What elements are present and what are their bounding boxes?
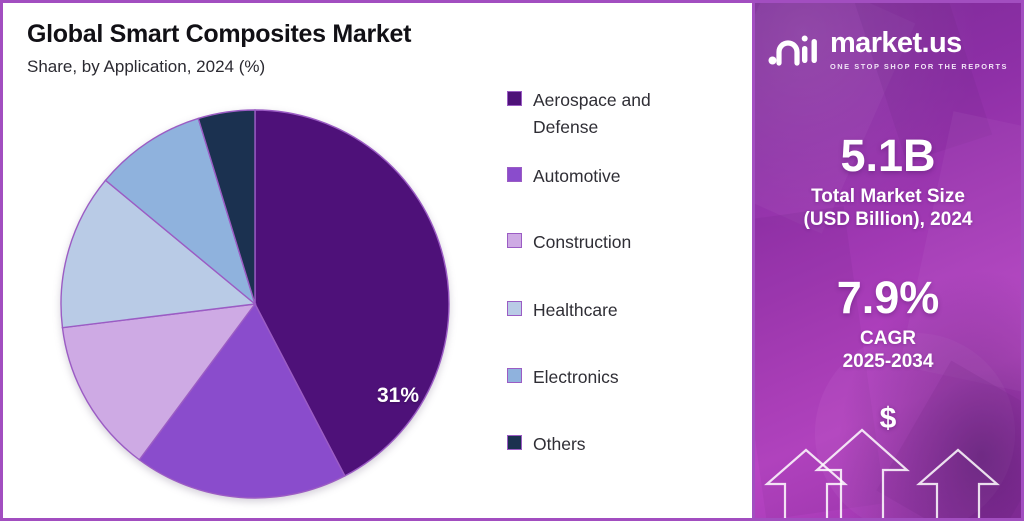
stat-caption-line1: Total Market Size <box>755 185 1021 208</box>
stat-cagr-value: 7.9% <box>755 275 1021 321</box>
legend-item-others[interactable]: Others <box>507 431 737 458</box>
dollar-sign-icon: $ <box>755 402 1021 436</box>
brand-name: market.us <box>830 29 1008 58</box>
stat-caption-line1: CAGR <box>755 327 1021 350</box>
legend-label-line2: Defense <box>533 117 598 137</box>
legend-label-aerospace-and-defense: Aerospace and Defense <box>533 87 651 141</box>
legend-label-others: Others <box>533 431 586 458</box>
brand-panel: market.us ONE STOP SHOP FOR THE REPORTS … <box>755 3 1021 518</box>
legend-swatch-electronics <box>507 368 522 383</box>
chart-panel: Global Smart Composites Market Share, by… <box>3 3 755 518</box>
brand-logo: market.us ONE STOP SHOP FOR THE REPORTS <box>755 29 1021 71</box>
arrow-up-right <box>919 450 997 518</box>
stat-caption-line2: (USD Billion), 2024 <box>755 208 1021 231</box>
pie-slice-group <box>61 110 449 498</box>
legend-item-healthcare[interactable]: Healthcare <box>507 297 737 324</box>
legend-swatch-aerospace-and-defense <box>507 91 522 106</box>
legend-swatch-others <box>507 435 522 450</box>
pie-chart-svg <box>59 108 451 500</box>
stat-market-size-value: 5.1B <box>755 133 1021 179</box>
legend-label-automotive: Automotive <box>533 163 621 190</box>
legend-item-aerospace-and-defense[interactable]: Aerospace and Defense <box>507 87 737 141</box>
page-title: Global Smart Composites Market <box>27 21 411 49</box>
market-us-logo-icon <box>768 32 821 68</box>
legend-item-automotive[interactable]: Automotive <box>507 163 737 190</box>
stat-market-size: 5.1B Total Market Size (USD Billion), 20… <box>755 133 1021 231</box>
legend-label-healthcare: Healthcare <box>533 297 618 324</box>
legend-swatch-healthcare <box>507 301 522 316</box>
page-subtitle: Share, by Application, 2024 (%) <box>27 58 411 77</box>
growth-arrows-graphic: $ <box>755 398 1021 518</box>
stat-cagr: 7.9% CAGR 2025-2034 <box>755 275 1021 373</box>
legend-swatch-construction <box>507 233 522 248</box>
pie-chart: 31% <box>59 108 451 500</box>
title-block: Global Smart Composites Market Share, by… <box>27 21 411 76</box>
stat-caption-line2: 2025-2034 <box>755 350 1021 373</box>
legend-label-line1: Aerospace and <box>533 90 651 110</box>
legend-label-construction: Construction <box>533 229 631 256</box>
legend-item-electronics[interactable]: Electronics <box>507 364 737 391</box>
brand-logo-text: market.us ONE STOP SHOP FOR THE REPORTS <box>830 29 1008 71</box>
stat-market-size-caption: Total Market Size (USD Billion), 2024 <box>755 185 1021 231</box>
legend-item-construction[interactable]: Construction <box>507 229 737 256</box>
chart-legend: Aerospace and Defense Automotive Constru… <box>507 87 737 478</box>
pie-data-label-aerospace: 31% <box>377 384 419 408</box>
legend-label-electronics: Electronics <box>533 364 619 391</box>
infographic-root: Global Smart Composites Market Share, by… <box>0 0 1024 521</box>
legend-swatch-automotive <box>507 167 522 182</box>
stat-cagr-caption: CAGR 2025-2034 <box>755 327 1021 373</box>
brand-tagline: ONE STOP SHOP FOR THE REPORTS <box>830 62 1008 71</box>
arrow-up-center <box>817 430 907 518</box>
arrow-up-left <box>767 450 845 518</box>
